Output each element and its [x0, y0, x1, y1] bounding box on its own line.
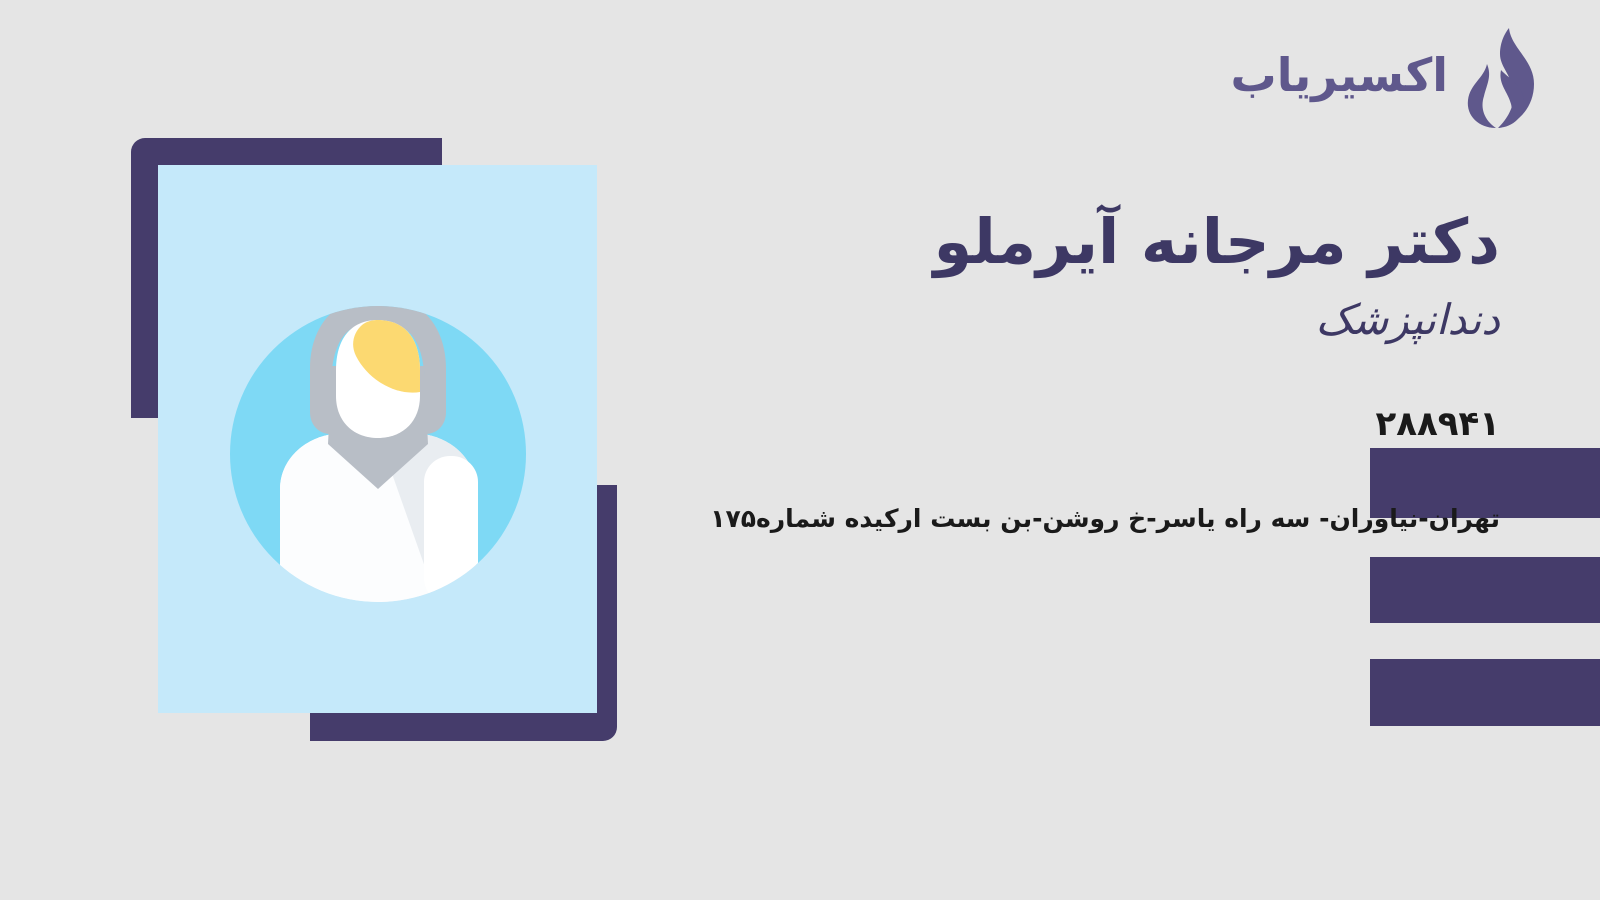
doctor-profile-card: اکسیریاب — [0, 0, 1600, 900]
address-text: تهران-نیاوران- سه راه یاسر-خ روشن-بن بست… — [710, 504, 1500, 533]
accent-bar-3 — [1370, 659, 1600, 726]
female-doctor-avatar-icon — [228, 274, 528, 604]
accent-bar-2 — [1370, 557, 1600, 623]
flame-icon — [1462, 26, 1538, 130]
license-number: ۲۸۸۹۴۱ — [1375, 404, 1500, 444]
brand-logo[interactable]: اکسیریاب — [1231, 26, 1539, 130]
brand-name: اکسیریاب — [1231, 52, 1449, 98]
doctor-info: دکتر مرجانه آیرملو دندانپزشک ۲۸۸۹۴۱ تهرا… — [500, 205, 1500, 535]
doctor-specialty: دندانپزشک — [500, 294, 1500, 347]
page-title: دکتر مرجانه آیرملو — [500, 205, 1500, 278]
address-row: تهران-نیاوران- سه راه یاسر-خ روشن-بن بست… — [500, 503, 1500, 536]
license-row: ۲۸۸۹۴۱ — [500, 407, 1500, 441]
